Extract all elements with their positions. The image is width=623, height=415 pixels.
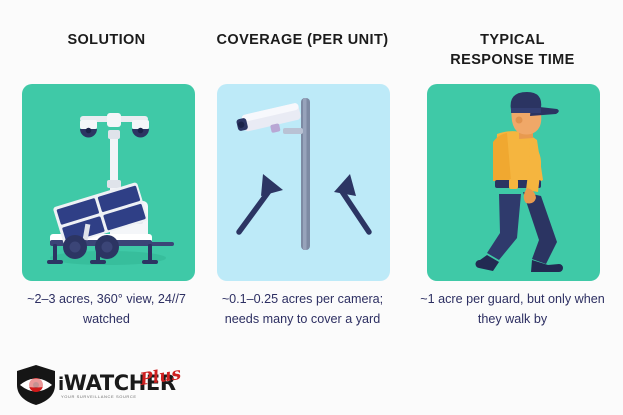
column-header-coverage: COVERAGE (PER UNIT) xyxy=(200,30,405,50)
brand-tagline: YOUR SURVEILLANCE SOURCE xyxy=(61,394,181,399)
illustration-panel-solar-trailer xyxy=(22,84,195,281)
infographic-canvas: SOLUTION xyxy=(0,0,623,415)
coverage-arrow-left xyxy=(239,174,283,232)
column-header-response-time: TYPICAL RESPONSE TIME xyxy=(410,30,615,70)
caption-solution: ~2–3 acres, 360° view, 24//7 watched xyxy=(10,289,203,329)
shield-eye-icon xyxy=(14,363,58,407)
brand-logo[interactable]: iWATCHER Plus YOUR SURVEILLANCE SOURCE xyxy=(14,361,194,409)
column-solution: SOLUTION xyxy=(4,0,209,415)
illustration-panel-cctv-pole xyxy=(217,84,390,281)
column-header-solution: SOLUTION xyxy=(4,30,209,50)
coverage-arrow-right xyxy=(334,174,369,232)
caption-coverage: ~0.1–0.25 acres per camera; needs many t… xyxy=(206,289,399,329)
walking-security-guard-illustration xyxy=(427,84,600,281)
column-response-time: TYPICAL RESPONSE TIME xyxy=(410,0,615,415)
column-header-line-1: SOLUTION xyxy=(67,32,145,48)
column-header-line-1: TYPICAL xyxy=(480,32,545,48)
column-header-line-2: RESPONSE TIME xyxy=(410,50,615,70)
pole-mounted-cctv-illustration xyxy=(217,84,390,281)
column-coverage: COVERAGE (PER UNIT) xyxy=(200,0,405,415)
column-header-line-1: COVERAGE (PER UNIT) xyxy=(217,32,389,48)
caption-response-time: ~1 acre per guard, but only when they wa… xyxy=(416,289,609,329)
solar-surveillance-trailer-illustration xyxy=(22,84,195,281)
illustration-panel-walking-guard xyxy=(427,84,600,281)
